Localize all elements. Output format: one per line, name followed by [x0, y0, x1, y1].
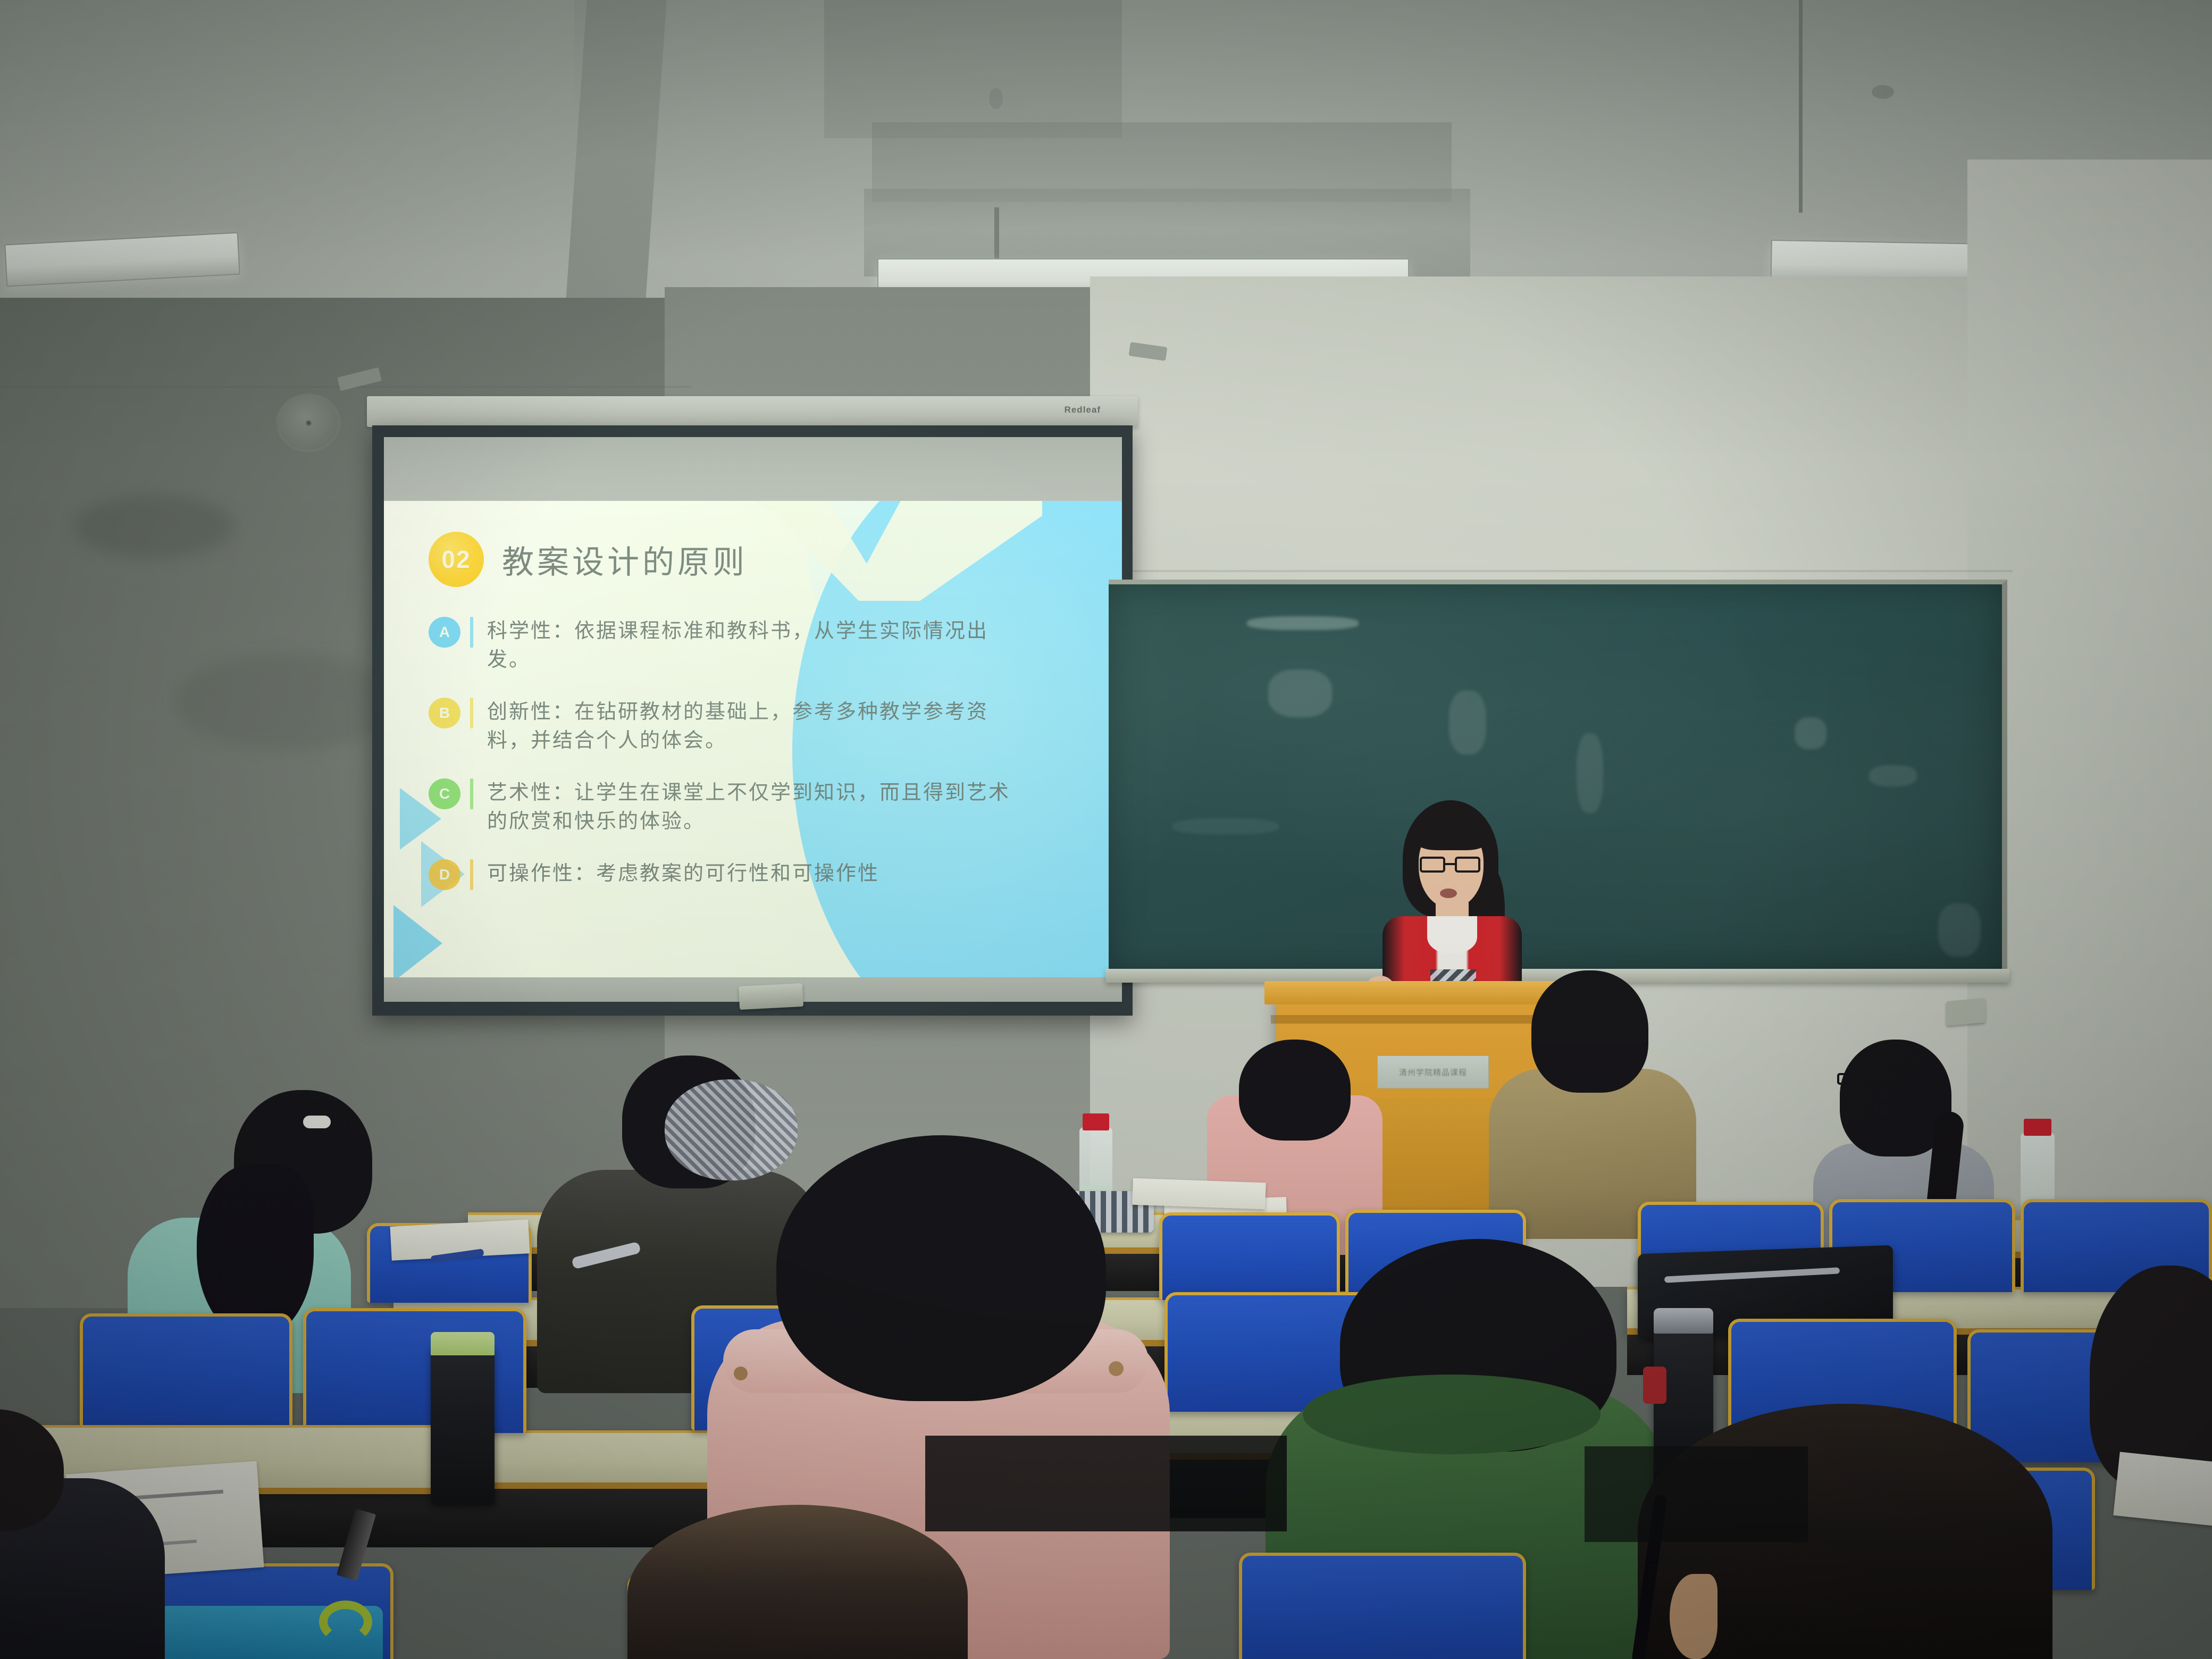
projection-screen-housing: Redleaf	[367, 396, 1138, 427]
thermos-left-lid	[431, 1332, 495, 1355]
green-jacket-hood	[1303, 1375, 1601, 1454]
projected-slide: 02 教案设计的原则 A 科学性：依据课程标准和教科书，从学生实际情况出发。 B…	[384, 501, 1122, 1002]
thermos-right-cap	[1654, 1308, 1713, 1334]
bullet-text-d: 可操作性：考虑教案的可行性和可操作性	[487, 859, 879, 888]
bullet-divider-b	[470, 698, 473, 728]
classroom-photo-scene: Redleaf 02 教案设计的原则	[0, 0, 2212, 1659]
wall-socket	[1946, 998, 1985, 1026]
slide-title-row: 02 教案设计的原则	[429, 532, 1088, 587]
thermos-right-strap	[1643, 1367, 1666, 1404]
presenter-glasses	[1420, 857, 1481, 873]
pink-jacket-button-3	[1109, 1361, 1124, 1376]
water-bottle-center-cap	[1083, 1113, 1109, 1130]
thermos-left	[431, 1345, 495, 1505]
under-desk-shadow-2	[1585, 1446, 1808, 1542]
chalkboard	[1109, 580, 2007, 973]
podium-plate-text: 清州学院精品课程	[1399, 1067, 1467, 1078]
bullet-marker-a: A	[429, 617, 460, 648]
tote-bag-strap	[319, 1601, 372, 1643]
water-bottle-right-cap	[2024, 1119, 2051, 1136]
student-rose-top-head	[1239, 1040, 1351, 1141]
screen-letterbox-top	[384, 437, 1122, 501]
slide-bullet-d: D 可操作性：考虑教案的可行性和可操作性	[429, 859, 1088, 890]
bullet-text-b: 创新性：在钻研教材的基础上，参考多种教学参考资料，并结合个人的体会。	[487, 698, 1019, 755]
notebook-r2-b	[1132, 1178, 1266, 1210]
seat-r2-3[interactable]	[1159, 1212, 1340, 1300]
chalkboard-area	[1109, 580, 2007, 973]
slide-bullet-b: B 创新性：在钻研教材的基础上，参考多种教学参考资料，并结合个人的体会。	[429, 698, 1088, 755]
student-dark-hoodie-hood-pattern	[665, 1079, 798, 1180]
screen-surface: 02 教案设计的原则 A 科学性：依据课程标准和教科书，从学生实际情况出发。 B…	[384, 437, 1122, 1002]
slide-number-badge: 02	[429, 532, 484, 587]
projection-screen[interactable]: 02 教案设计的原则 A 科学性：依据课程标准和教科书，从学生实际情况出发。 B…	[372, 425, 1133, 1016]
screen-brand-label: Redleaf	[1065, 405, 1101, 415]
slide-bullet-a: A 科学性：依据课程标准和教科书，从学生实际情况出发。	[429, 617, 1088, 674]
seat-r3-1[interactable]	[80, 1313, 292, 1436]
bullet-divider-a	[470, 617, 473, 648]
ceiling-hanger-rod	[1799, 0, 1803, 213]
student-grey-blazer-glasses	[1837, 1073, 1874, 1085]
student-pink-jacket-head	[776, 1135, 1106, 1401]
under-desk-shadow	[925, 1436, 1287, 1531]
slide-bullet-c: C 艺术性：让学生在课堂上不仅学到知识，而且得到艺术的欣赏和快乐的体验。	[429, 778, 1088, 836]
slide-title: 教案设计的原则	[502, 537, 748, 583]
bullet-divider-d	[470, 859, 473, 890]
bullet-marker-b: B	[429, 698, 460, 728]
bullet-marker-d: D	[429, 859, 460, 890]
bullet-text-c: 艺术性：让学生在课堂上不仅学到知识，而且得到艺术的欣赏和快乐的体验。	[487, 778, 1019, 836]
hair-clip	[303, 1116, 331, 1128]
board-eraser	[739, 983, 803, 1010]
student-khaki-hoodie-head	[1531, 970, 1648, 1093]
podium-top-surface	[1264, 981, 1586, 1004]
paper-far-right	[2113, 1452, 2212, 1526]
student-foreground-right-ear	[1670, 1574, 1717, 1659]
bullet-marker-c: C	[429, 778, 460, 809]
wall-clock	[276, 393, 340, 452]
presenter-collar	[1427, 916, 1477, 953]
pink-jacket-button-4	[734, 1367, 748, 1380]
seat-r4-3[interactable]	[1239, 1553, 1526, 1659]
podium-name-plate: 清州学院精品课程	[1377, 1055, 1489, 1088]
slide-decor-triangle-3	[393, 905, 442, 982]
bullet-text-a: 科学性：依据课程标准和教科书，从学生实际情况出发。	[487, 617, 1019, 674]
bullet-divider-c	[470, 778, 473, 809]
